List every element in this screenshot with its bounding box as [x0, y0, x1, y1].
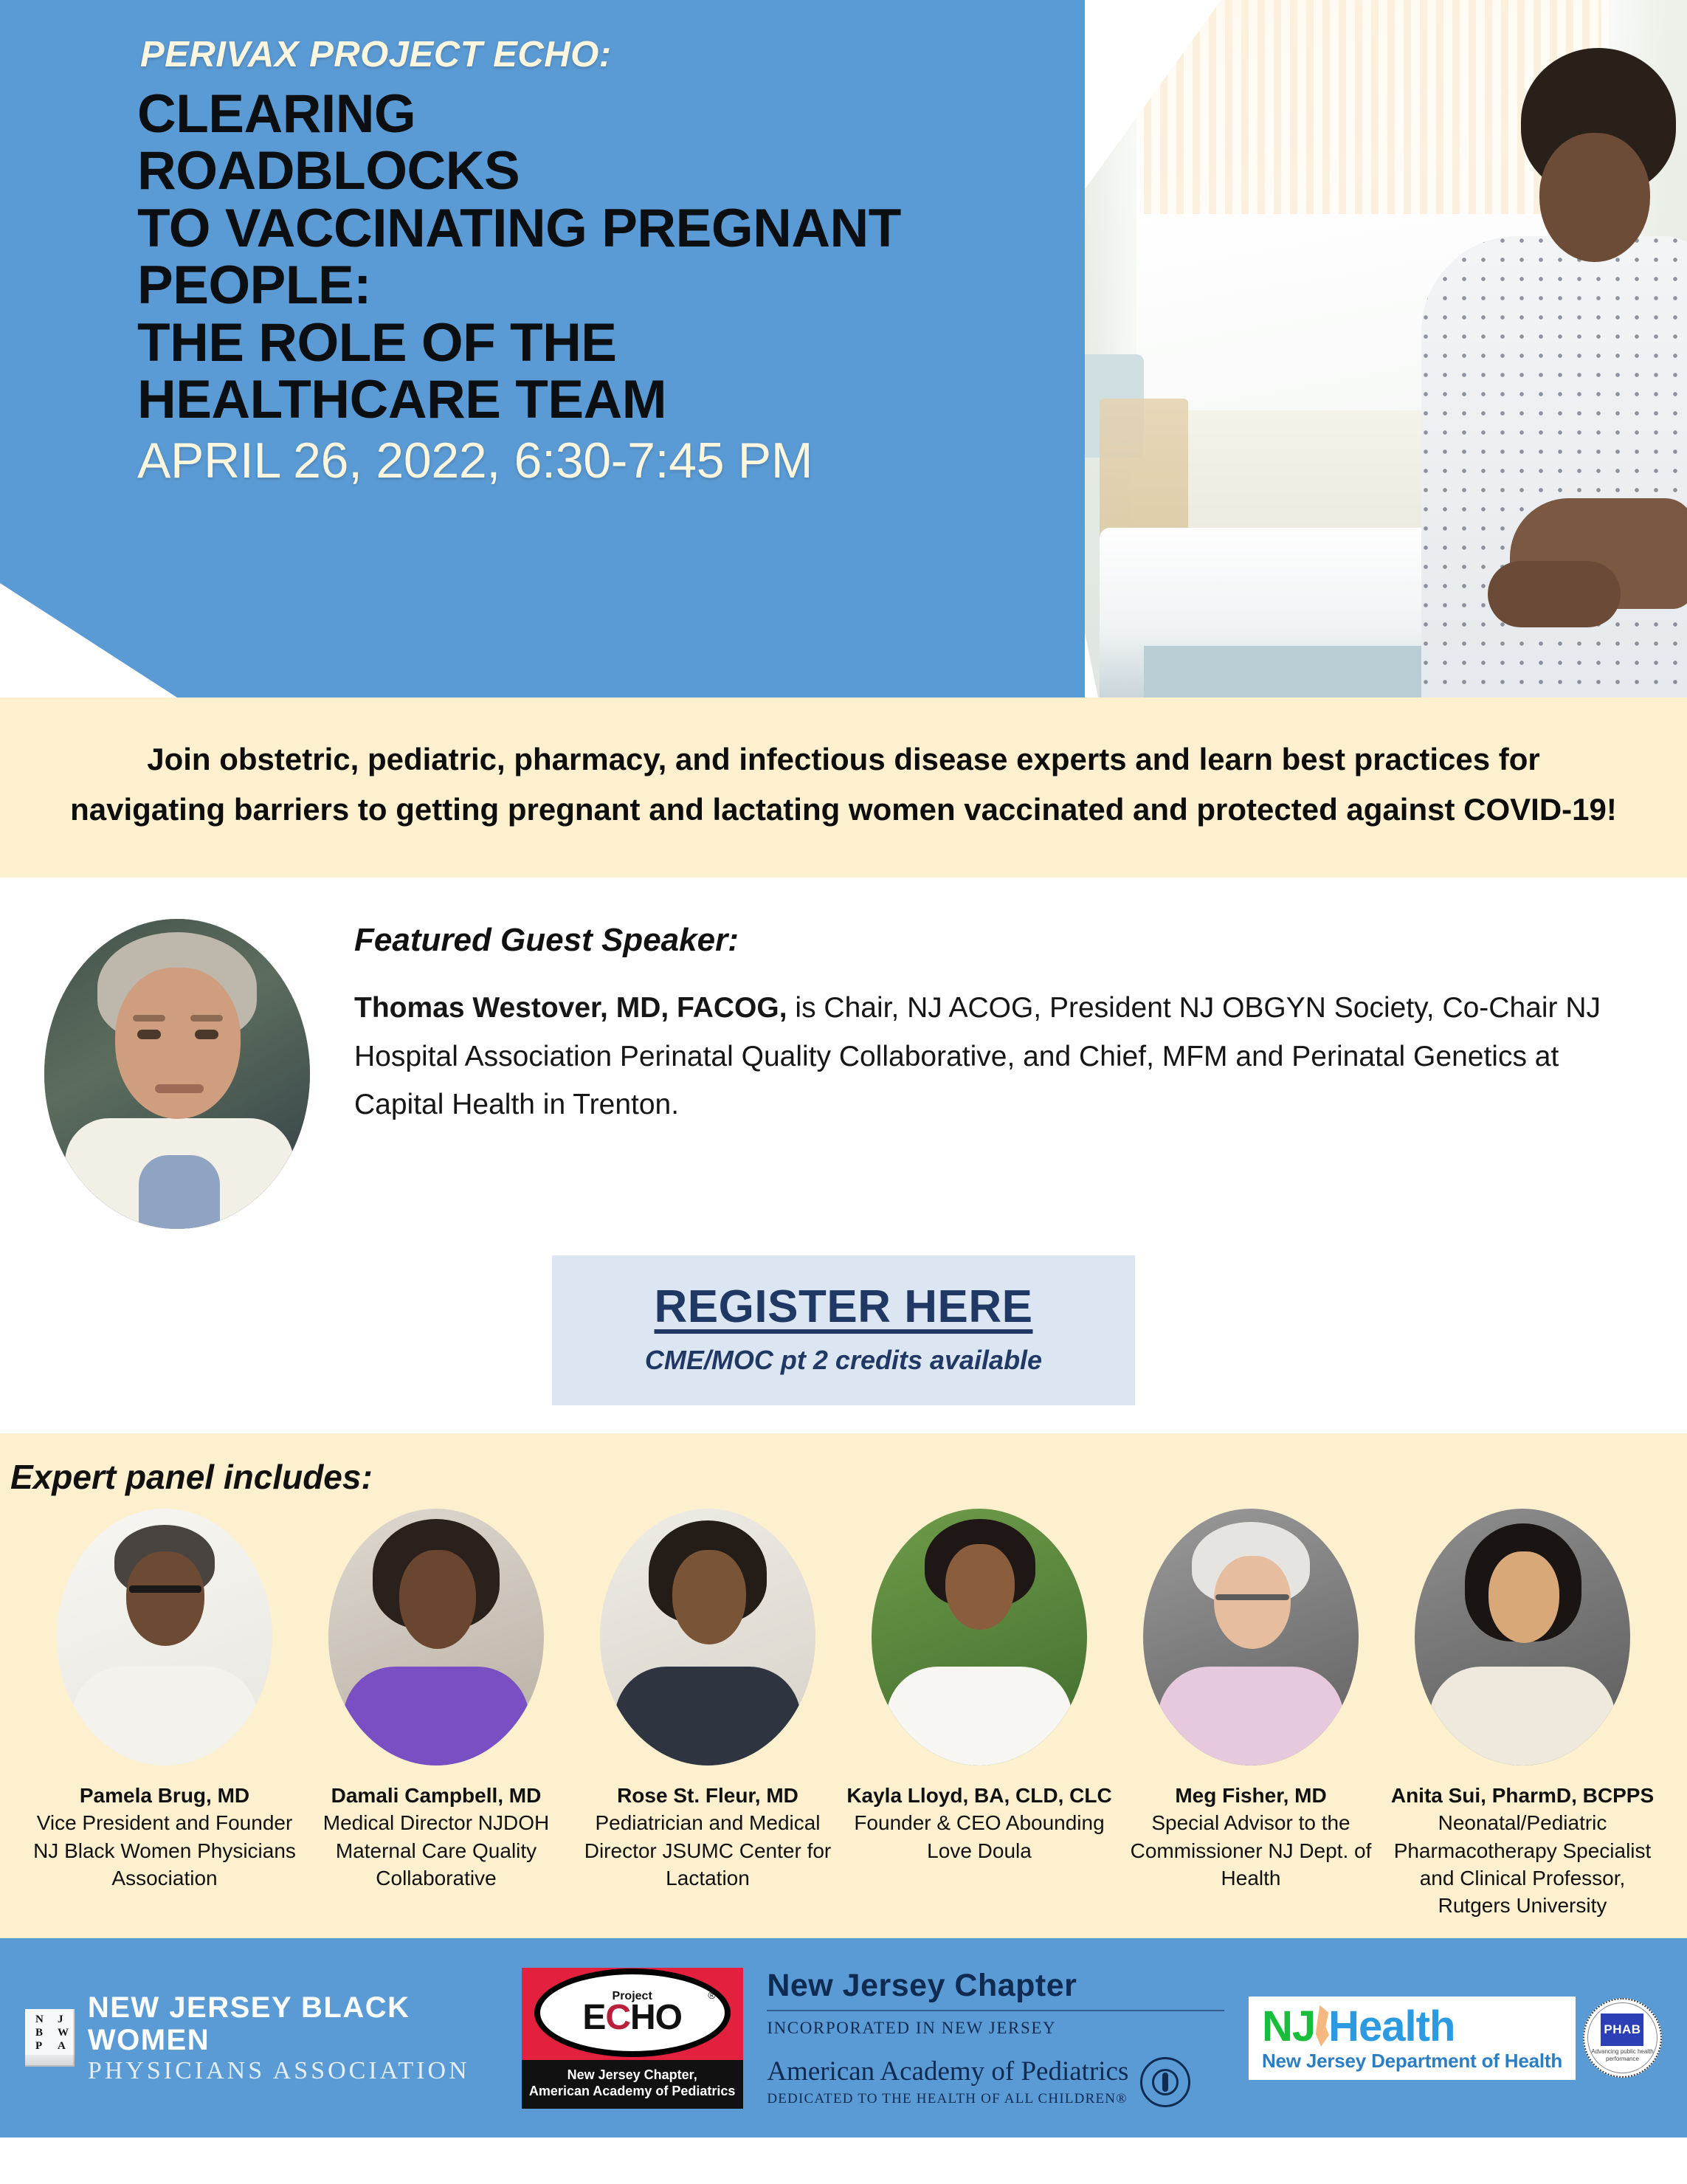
aap-academy-block: American Academy of Pediatrics DEDICATED…	[767, 2057, 1128, 2108]
patient-hand-icon	[1488, 561, 1621, 627]
panelist-role: Pediatrician and Medical Director JSUMC …	[573, 1809, 843, 1892]
aap-academy-name: American Academy of Pediatrics	[767, 2057, 1128, 2087]
panelist-card: Pamela Brug, MD Vice President and Found…	[30, 1509, 300, 1919]
panelist-face-icon	[945, 1544, 1015, 1630]
register-box[interactable]: REGISTER HERE CME/MOC pt 2 credits avail…	[552, 1255, 1135, 1405]
njbwpa-line-1: NEW JERSEY BLACK WOMEN	[88, 1991, 497, 2056]
aap-incorporated-line: INCORPORATED IN NEW JERSEY	[767, 2019, 1224, 2038]
speaker-brow-right-icon	[190, 1015, 223, 1022]
hero-date: APRIL 26, 2022, 6:30-7:45 PM	[137, 433, 1052, 489]
njbwpa-wordmark: NEW JERSEY BLACK WOMEN PHYSICIANS ASSOCI…	[88, 1991, 497, 2085]
echo-oval-icon: Project ECHO ®	[534, 1968, 731, 2057]
hero-title-line-5: THE ROLE OF THE	[137, 314, 1052, 371]
echo-logo-caption: New Jersey Chapter, American Academy of …	[522, 2058, 743, 2109]
speaker-photo-wrap	[0, 910, 354, 1229]
panelist-role: Vice President and Founder NJ Black Wome…	[30, 1809, 300, 1892]
patient-gown-icon	[1421, 236, 1687, 697]
nj-health-nj-text: NJ	[1262, 2002, 1315, 2050]
njbwpa-line-2: PHYSICIANS ASSOCIATION	[88, 2056, 497, 2085]
aap-academy-row: American Academy of Pediatrics DEDICATED…	[767, 2057, 1224, 2108]
featured-speaker-section: Featured Guest Speaker: Thomas Westover,…	[0, 878, 1687, 1242]
nj-health-wordmark: NJHealth	[1262, 2005, 1562, 2048]
speaker-mouth-icon	[155, 1084, 204, 1093]
echo-letter-c: C	[605, 1998, 630, 2037]
panelist-avatar	[57, 1509, 272, 1766]
echo-caption-line-2: American Academy of Pediatrics	[526, 2084, 739, 2100]
echo-wordmark: ECHO	[582, 2000, 682, 2036]
panelist-role: Founder & CEO Abounding Love Doula	[844, 1809, 1114, 1864]
hero-title-line-3: TO VACCINATING PREGNANT	[137, 200, 1052, 257]
speaker-eye-left-icon	[137, 1030, 161, 1039]
panelist-card: Kayla Lloyd, BA, CLD, CLC Founder & CEO …	[844, 1509, 1114, 1919]
panelist-name: Kayla Lloyd, BA, CLD, CLC	[844, 1782, 1114, 1809]
hero-text-block: PERIVAX PROJECT ECHO: CLEARING ROADBLOCK…	[137, 34, 1052, 489]
panelist-face-icon	[126, 1551, 204, 1646]
hero-title-line-4: PEOPLE:	[137, 257, 1052, 314]
speaker-text-block: Featured Guest Speaker: Thomas Westover,…	[354, 910, 1687, 1129]
nj-health-department-line: New Jersey Department of Health	[1262, 2050, 1562, 2073]
njbwpa-logo: N B P J W A NEW JERSEY BLACK WOMEN PHYSI…	[25, 1991, 497, 2085]
footer-logo-bar: N B P J W A NEW JERSEY BLACK WOMEN PHYSI…	[0, 1938, 1687, 2138]
panelist-glasses-icon	[129, 1585, 201, 1593]
aap-dedicated-line: DEDICATED TO THE HEALTH OF ALL CHILDREN®	[767, 2091, 1128, 2107]
panelist-body-icon	[1158, 1667, 1344, 1766]
panelist-face-icon	[399, 1550, 476, 1649]
panelist-card: Anita Sui, PharmD, BCPPS Neonatal/Pediat…	[1387, 1509, 1657, 1919]
hero-eyebrow: PERIVAX PROJECT ECHO:	[140, 34, 1052, 75]
echo-caption-line-1: New Jersey Chapter,	[526, 2067, 739, 2084]
panelist-role: Medical Director NJDOH Maternal Care Qua…	[301, 1809, 571, 1892]
summary-band: Join obstetric, pediatric, pharmacy, and…	[0, 697, 1687, 878]
speaker-scrub-icon	[139, 1155, 220, 1229]
echo-letters-ho: HO	[630, 1998, 682, 2037]
panelist-avatar	[1415, 1509, 1630, 1766]
cube-letter: B	[35, 2027, 43, 2039]
cube-letter: A	[58, 2040, 66, 2053]
aap-nj-chapter-logo: New Jersey Chapter INCORPORATED IN NEW J…	[767, 1968, 1224, 2107]
expert-panel-grid: Pamela Brug, MD Vice President and Found…	[0, 1509, 1687, 1919]
hero-photo	[1055, 0, 1687, 697]
aap-seal-icon	[1140, 2057, 1190, 2107]
panelist-role: Neonatal/Pediatric Pharmacotherapy Speci…	[1387, 1809, 1657, 1919]
panelist-name: Pamela Brug, MD	[30, 1782, 300, 1809]
cube-letter: W	[58, 2027, 69, 2039]
panelist-face-icon	[1488, 1551, 1559, 1643]
aap-chapter-title: New Jersey Chapter	[767, 1968, 1224, 2003]
patient-face-icon	[1539, 133, 1650, 262]
project-echo-logo: Project ECHO ® New Jersey Chapter, Ameri…	[522, 1968, 743, 2109]
aap-divider	[767, 2010, 1224, 2011]
panelist-card: Damali Campbell, MD Medical Director NJD…	[301, 1509, 571, 1919]
panelist-body-icon	[886, 1667, 1072, 1766]
speaker-face-icon	[115, 968, 241, 1119]
panelist-body-icon	[343, 1667, 529, 1766]
panelist-avatar	[600, 1509, 815, 1766]
panelist-face-icon	[1214, 1556, 1291, 1649]
summary-text: Join obstetric, pediatric, pharmacy, and…	[70, 734, 1617, 835]
echo-letter-e: E	[582, 1998, 605, 2037]
hero-title-line-1: CLEARING	[137, 86, 1052, 142]
expert-panel-section: Expert panel includes: Pamela Brug, MD V…	[0, 1433, 1687, 1938]
panelist-card: Meg Fisher, MD Special Advisor to the Co…	[1116, 1509, 1386, 1919]
panelist-body-icon	[615, 1667, 801, 1766]
panelist-avatar	[328, 1509, 544, 1766]
panelist-name: Meg Fisher, MD	[1116, 1782, 1386, 1809]
register-credits-note: CME/MOC pt 2 credits available	[552, 1345, 1135, 1376]
register-here-link[interactable]: REGISTER HERE	[655, 1281, 1033, 1333]
panelist-face-icon	[672, 1550, 746, 1644]
hero-title-line-6: HEALTHCARE TEAM	[137, 371, 1052, 428]
panelist-name: Anita Sui, PharmD, BCPPS	[1387, 1782, 1657, 1809]
hero-banner: PERIVAX PROJECT ECHO: CLEARING ROADBLOCK…	[0, 0, 1687, 697]
hero-title-line-2: ROADBLOCKS	[137, 142, 1052, 199]
nj-health-logo: NJHealth New Jersey Department of Health…	[1249, 1997, 1662, 2080]
hero-photo-patient	[1407, 30, 1687, 697]
nj-health-health-text: Health	[1328, 2002, 1455, 2050]
speaker-brow-left-icon	[133, 1015, 165, 1022]
cube-letter: J	[58, 2014, 63, 2026]
panelist-body-icon	[1429, 1667, 1615, 1766]
speaker-bio: Thomas Westover, MD, FACOG, is Chair, NJ…	[354, 984, 1621, 1129]
phab-seal-ring	[1587, 2002, 1657, 2073]
speaker-eye-right-icon	[195, 1030, 218, 1039]
panelist-glasses-icon	[1215, 1594, 1289, 1600]
speaker-name: Thomas Westover, MD, FACOG,	[354, 992, 787, 1024]
cube-letter: N	[35, 2014, 44, 2026]
panelist-avatar	[872, 1509, 1087, 1766]
featured-speaker-label: Featured Guest Speaker:	[354, 922, 1621, 959]
nj-health-wordmark-box: NJHealth New Jersey Department of Health	[1249, 1997, 1576, 2080]
panelist-name: Rose St. Fleur, MD	[573, 1782, 843, 1809]
panelist-role: Special Advisor to the Commissioner NJ D…	[1116, 1809, 1386, 1892]
speaker-avatar	[44, 919, 310, 1229]
echo-logo-top: Project ECHO ®	[522, 1968, 743, 2058]
njbwpa-cube-icon: N B P J W A	[25, 2009, 75, 2067]
panelist-name: Damali Campbell, MD	[301, 1782, 571, 1809]
cube-letter: P	[35, 2040, 42, 2053]
panelist-body-icon	[72, 1667, 258, 1766]
phab-accreditation-seal-icon: PHAB Advancing public health performance	[1583, 1998, 1662, 2078]
panelist-avatar	[1143, 1509, 1359, 1766]
registered-mark-icon: ®	[708, 1989, 715, 2001]
register-row: REGISTER HERE CME/MOC pt 2 credits avail…	[0, 1242, 1687, 1433]
expert-panel-title: Expert panel includes:	[10, 1457, 1687, 1497]
panelist-card: Rose St. Fleur, MD Pediatrician and Medi…	[573, 1509, 843, 1919]
